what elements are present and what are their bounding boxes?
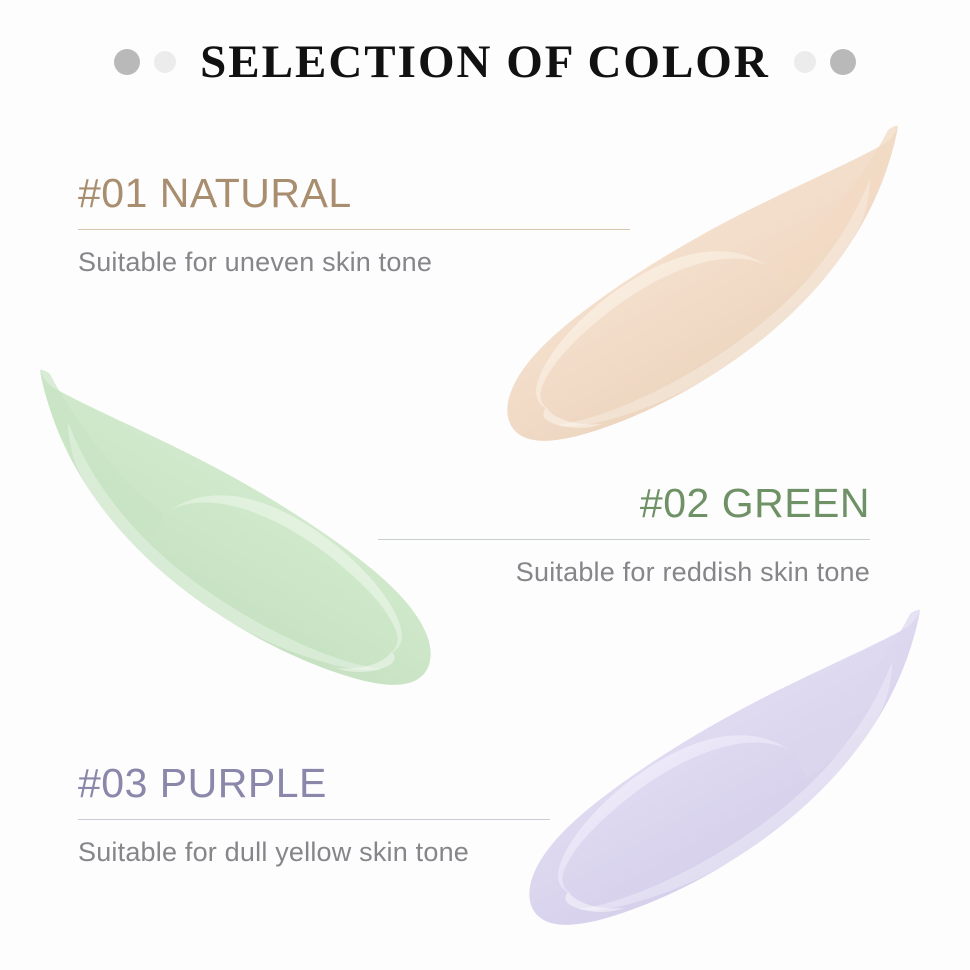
color-subtitle-green: Suitable for reddish skin tone bbox=[378, 557, 870, 588]
decor-dot-dark-right-icon bbox=[830, 49, 856, 75]
color-title-natural: #01 NATURAL bbox=[78, 172, 630, 215]
color-divider-green bbox=[378, 539, 870, 540]
decor-dot-light-right-icon bbox=[794, 51, 816, 73]
color-selection-infographic: SELECTION OF COLOR bbox=[0, 0, 970, 970]
swatch-natural bbox=[498, 108, 918, 468]
color-subtitle-purple: Suitable for dull yellow skin tone bbox=[78, 837, 550, 868]
color-block-green: #02 GREEN Suitable for reddish skin tone bbox=[378, 482, 870, 588]
color-block-natural: #01 NATURAL Suitable for uneven skin ton… bbox=[78, 172, 630, 278]
decor-dot-dark-left-icon bbox=[114, 49, 140, 75]
color-block-purple: #03 PURPLE Suitable for dull yellow skin… bbox=[78, 762, 550, 868]
color-title-green: #02 GREEN bbox=[378, 482, 870, 525]
header: SELECTION OF COLOR bbox=[0, 26, 970, 98]
swatch-green bbox=[20, 352, 440, 712]
color-divider-purple bbox=[78, 819, 550, 820]
color-divider-natural bbox=[78, 229, 630, 230]
color-subtitle-natural: Suitable for uneven skin tone bbox=[78, 247, 630, 278]
decor-dot-light-left-icon bbox=[154, 51, 176, 73]
page-title: SELECTION OF COLOR bbox=[200, 39, 770, 86]
swatch-purple bbox=[520, 592, 940, 952]
color-title-purple: #03 PURPLE bbox=[78, 762, 550, 805]
